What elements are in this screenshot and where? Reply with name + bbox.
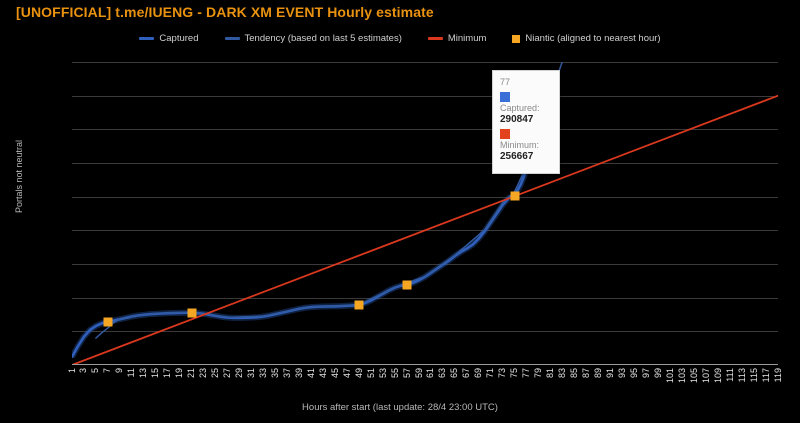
x-axis-tick-label: 109: [714, 368, 723, 383]
x-axis-tick-label: 97: [642, 368, 651, 378]
x-axis-tick-label: 105: [690, 368, 699, 383]
x-axis-tick-label: 91: [606, 368, 615, 378]
x-axis-tick-label: 113: [738, 368, 747, 382]
x-axis-tick-label: 17: [163, 368, 172, 378]
x-axis-tick-label: 119: [774, 368, 783, 382]
series-canvas: [72, 62, 778, 365]
x-axis-tick-label: 93: [618, 368, 627, 378]
hover-tooltip: 77 Captured:290847Minimum:256667: [492, 70, 560, 174]
chart-screenshot: [UNOFFICIAL] t.me/IUENG - DARK XM EVENT …: [0, 0, 800, 423]
x-axis-tick-label: 75: [510, 368, 519, 378]
x-axis-tick-label: 65: [450, 368, 459, 378]
x-axis-tick-label: 1: [68, 368, 77, 373]
x-axis-tick-label: 77: [522, 368, 531, 378]
x-axis-tick-label: 69: [474, 368, 483, 378]
x-axis-tick-label: 37: [283, 368, 292, 378]
x-axis-tick-label: 7: [103, 368, 112, 373]
x-axis-tick-label: 111: [726, 368, 735, 382]
legend-item[interactable]: Niantic (aligned to nearest hour): [512, 33, 660, 44]
x-axis-tick-label: 61: [426, 368, 435, 378]
x-axis-ticks: 1357911131517192123252729313335373941434…: [72, 368, 778, 400]
x-axis-tick-label: 79: [534, 368, 543, 378]
legend-swatch-icon: [428, 37, 443, 40]
legend-swatch-icon: [139, 37, 154, 40]
x-axis-tick-label: 107: [702, 368, 711, 383]
x-axis-tick-label: 33: [259, 368, 268, 378]
x-axis-tick-label: 63: [438, 368, 447, 378]
x-axis-tick-label: 43: [319, 368, 328, 378]
tooltip-row-key: Captured:: [500, 103, 552, 115]
legend-swatch-icon: [225, 37, 240, 40]
x-axis-tick-label: 85: [570, 368, 579, 378]
y-axis-label: Portals not neutral: [14, 140, 24, 213]
tooltip-row-value: 256667: [500, 151, 552, 164]
x-axis-tick-label: 27: [223, 368, 232, 378]
plot-area: 0500001000001500002000002500003000003500…: [72, 62, 778, 365]
tooltip-row-value: 290847: [500, 114, 552, 127]
tooltip-swatch-icon: [500, 129, 510, 139]
x-axis-tick-label: 11: [127, 368, 136, 377]
tooltip-rows: Captured:290847Minimum:256667: [500, 92, 552, 165]
tooltip-row-key: Minimum:: [500, 140, 552, 152]
x-axis-tick-label: 117: [762, 368, 771, 382]
x-axis-tick-label: 23: [199, 368, 208, 378]
x-axis-tick-label: 115: [750, 368, 759, 382]
x-axis-tick-label: 35: [271, 368, 280, 378]
x-axis-tick-label: 103: [678, 368, 687, 383]
chart-legend: CapturedTendency (based on last 5 estima…: [0, 33, 800, 44]
x-axis-tick-label: 53: [379, 368, 388, 378]
niantic-data-point[interactable]: [103, 317, 112, 326]
x-axis-tick-label: 101: [666, 368, 675, 383]
x-axis-tick-label: 81: [546, 368, 555, 378]
niantic-data-point[interactable]: [355, 301, 364, 310]
legend-item[interactable]: Tendency (based on last 5 estimates): [225, 33, 402, 44]
x-axis-tick-label: 99: [654, 368, 663, 378]
x-axis-tick-label: 31: [247, 368, 256, 378]
x-axis-tick-label: 19: [175, 368, 184, 378]
x-axis-tick-label: 59: [415, 368, 424, 378]
x-axis-tick-label: 15: [151, 368, 160, 378]
legend-swatch-icon: [512, 35, 520, 43]
page-title: [UNOFFICIAL] t.me/IUENG - DARK XM EVENT …: [16, 4, 434, 20]
niantic-data-point[interactable]: [187, 308, 196, 317]
series-glow-captured: [72, 169, 527, 357]
x-axis-tick-label: 87: [582, 368, 591, 378]
x-axis-line: [72, 364, 778, 365]
x-axis-label: Hours after start (last update: 28/4 23:…: [0, 402, 800, 413]
x-axis-tick-label: 39: [295, 368, 304, 378]
series-line: [72, 96, 778, 365]
x-axis-tick-label: 73: [498, 368, 507, 378]
x-axis-tick-label: 47: [343, 368, 352, 378]
x-axis-tick-label: 57: [403, 368, 412, 378]
legend-item-label: Captured: [159, 33, 198, 44]
x-axis-tick-label: 89: [594, 368, 603, 378]
x-axis-tick-label: 95: [630, 368, 639, 378]
legend-item-label: Niantic (aligned to nearest hour): [525, 33, 660, 44]
legend-item-label: Minimum: [448, 33, 487, 44]
tooltip-swatch-icon: [500, 92, 510, 102]
x-axis-tick-label: 29: [235, 368, 244, 378]
legend-item-label: Tendency (based on last 5 estimates): [245, 33, 402, 44]
x-axis-tick-label: 5: [91, 368, 100, 373]
x-axis-tick-label: 25: [211, 368, 220, 378]
x-axis-tick-label: 67: [462, 368, 471, 378]
x-axis-tick-label: 45: [331, 368, 340, 378]
x-axis-tick-label: 71: [486, 368, 495, 378]
niantic-data-point[interactable]: [403, 280, 412, 289]
tooltip-header: 77: [500, 77, 552, 89]
x-axis-tick-label: 21: [187, 368, 196, 378]
legend-item[interactable]: Minimum: [428, 33, 487, 44]
x-axis-tick-label: 13: [139, 368, 148, 378]
x-axis-tick-label: 55: [391, 368, 400, 378]
niantic-data-point[interactable]: [510, 191, 519, 200]
legend-item[interactable]: Captured: [139, 33, 198, 44]
x-axis-tick-label: 3: [79, 368, 88, 373]
x-axis-tick-label: 83: [558, 368, 567, 378]
x-axis-tick-label: 51: [367, 368, 376, 378]
x-axis-tick-label: 49: [355, 368, 364, 378]
series-line: [72, 169, 527, 357]
x-axis-tick-label: 41: [307, 368, 316, 378]
x-axis-tick-label: 9: [115, 368, 124, 373]
